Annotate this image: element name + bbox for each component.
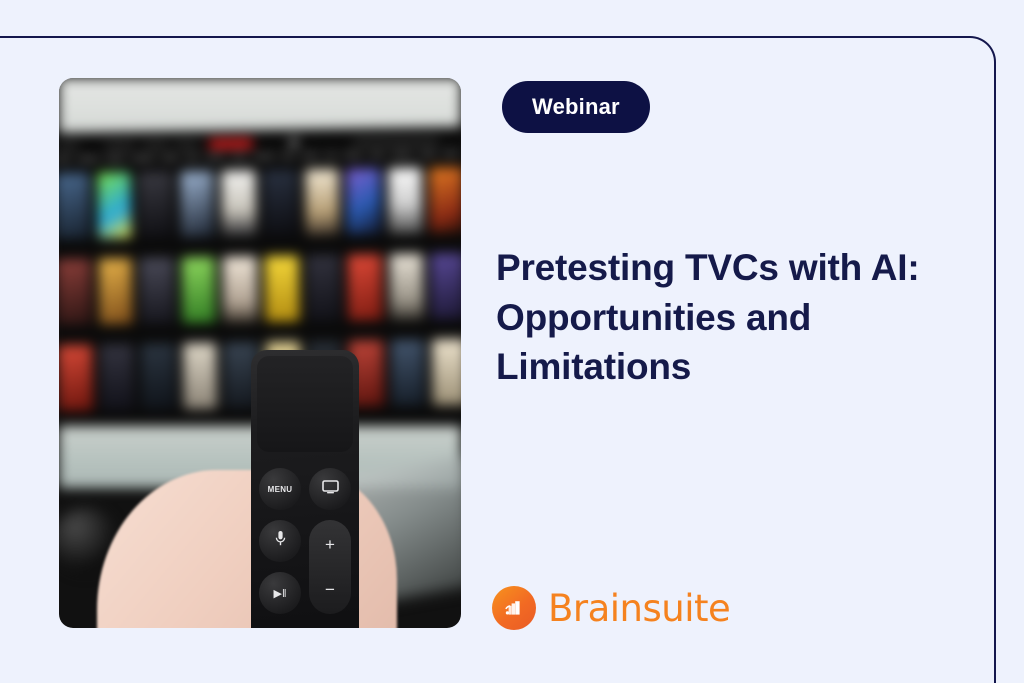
badge-label: Webinar [532,94,620,120]
volume-up-label: + [309,536,351,553]
tv-screen-icon [322,480,339,499]
remote-tv-button [309,468,351,510]
remote-menu-button: MENU [259,468,301,510]
microphone-icon [275,530,286,552]
remote-volume-rocker: + − [309,520,351,614]
tv-nav-active-item [209,139,253,149]
brainsuite-layers-icon [492,586,536,630]
tv-tile-row [59,253,461,325]
remote-play-pause-button: ▶‖ [259,572,301,614]
remote-touchpad [257,356,353,452]
hero-image: MENU ▶‖ + − [59,78,461,628]
tv-remote: MENU ▶‖ + − [251,350,359,628]
play-pause-icon: ▶‖ [273,587,286,600]
tv-tile-row [59,167,461,239]
volume-down-label: − [309,581,351,598]
brand-name: Brainsuite [548,587,730,630]
status-badge: Webinar [502,81,650,133]
page-title: Pretesting TVCs with AI: Opportunities a… [496,243,996,392]
remote-mic-button [259,520,301,562]
brand-logo: Brainsuite [492,586,730,630]
remote-menu-label: MENU [268,485,293,494]
